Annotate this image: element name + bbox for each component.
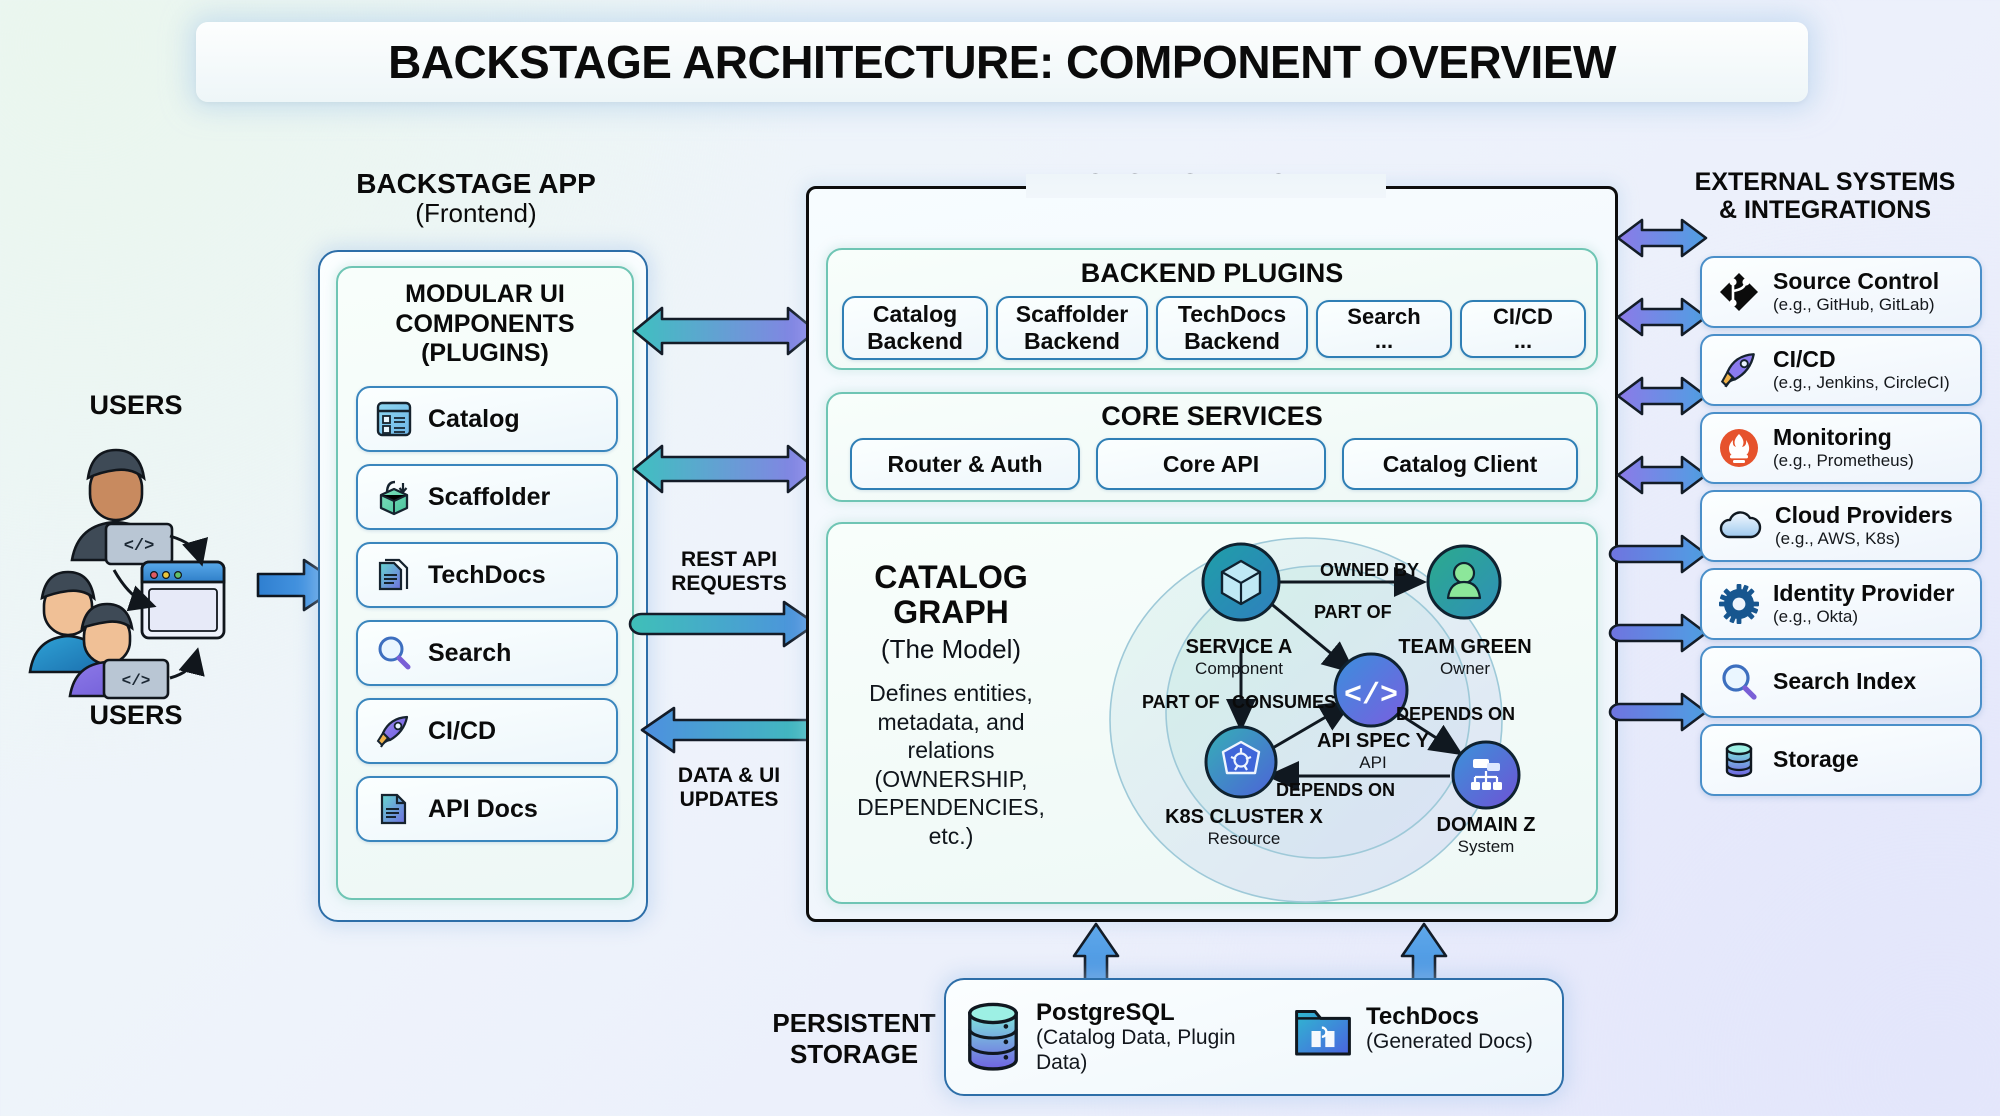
- backend-plugin-catalog[interactable]: CatalogBackend: [842, 296, 988, 360]
- external-item-search-index[interactable]: Search Index: [1700, 646, 1982, 718]
- core-services-heading: CORE SERVICES: [828, 401, 1596, 432]
- external-item-source-control[interactable]: Source Control (e.g., GitHub, GitLab): [1700, 256, 1982, 328]
- database-icon: [962, 998, 1024, 1078]
- graph-node-k8s-cluster-x: [1206, 727, 1276, 797]
- users-illustration: </> </>: [20, 420, 280, 710]
- storage-item-detail: (Generated Docs): [1366, 1030, 1533, 1055]
- catalog-graph-text: CATALOG GRAPH (The Model) Defines entiti…: [836, 560, 1066, 850]
- graph-label-api-spec-y: API SPEC Y API: [1278, 730, 1468, 773]
- document-icon: [374, 555, 414, 595]
- external-item-identity-provider[interactable]: Identity Provider (e.g., Okta): [1700, 568, 1982, 640]
- chip-line2: ...: [1514, 328, 1532, 353]
- edge-label-owned-by: OWNED BY: [1320, 560, 1419, 581]
- app-backend-arrow-top: [632, 306, 818, 356]
- prometheus-flame-icon: [1718, 427, 1760, 469]
- catalog-graph-panel: CATALOG GRAPH (The Model) Defines entiti…: [826, 522, 1598, 904]
- edge-label-depends-on-k8s: DEPENDS ON: [1276, 780, 1395, 801]
- page-title-text: BACKSTAGE ARCHITECTURE: COMPONENT OVERVI…: [388, 35, 1616, 89]
- page-title: BACKSTAGE ARCHITECTURE: COMPONENT OVERVI…: [196, 22, 1808, 102]
- rest-api-line2: REQUESTS: [644, 572, 814, 596]
- svg-text:</>: </>: [122, 672, 151, 690]
- git-branch-icon: [1718, 271, 1760, 313]
- data-ui-updates-arrow: [640, 706, 818, 754]
- plugins-heading-line3: (PLUGINS): [338, 339, 632, 369]
- external-item-detail: (e.g., Prometheus): [1773, 451, 1914, 471]
- core-service-router-auth[interactable]: Router & Auth: [850, 438, 1080, 490]
- plugin-label: TechDocs: [428, 561, 546, 590]
- rest-api-label: REST API REQUESTS: [644, 548, 814, 595]
- graph-node-service-a: [1203, 544, 1279, 620]
- plugins-heading-line1: MODULAR UI: [338, 280, 632, 310]
- plugin-label: Scaffolder: [428, 483, 550, 512]
- external-item-detail: (e.g., GitHub, GitLab): [1773, 295, 1939, 315]
- arrow-source-control: [1618, 220, 1706, 256]
- plugin-label: Search: [428, 639, 511, 668]
- catalog-graph-heading-line1: CATALOG: [874, 559, 1027, 595]
- backstage-app-caption: BACKSTAGE APP (Frontend): [266, 168, 686, 228]
- plugin-item-api-docs[interactable]: API Docs: [356, 776, 618, 842]
- catalog-graph-heading-line2: GRAPH: [893, 594, 1009, 630]
- chip-line2: Backend: [867, 328, 963, 354]
- core-service-catalog-client[interactable]: Catalog Client: [1342, 438, 1578, 490]
- graph-node-team-green: [1428, 546, 1500, 618]
- chip-line1: TechDocs: [1178, 301, 1286, 327]
- chip-line1: CI/CD: [1493, 304, 1553, 329]
- edge-label-consumes: CONSUMES: [1232, 692, 1336, 713]
- plugin-item-catalog[interactable]: Catalog: [356, 386, 618, 452]
- backend-plugins-heading: BACKEND PLUGINS: [828, 258, 1596, 289]
- arrow-cicd: [1618, 299, 1706, 335]
- database-icon: [1718, 739, 1760, 781]
- backstage-app-subheading: (Frontend): [266, 199, 686, 228]
- plugin-label: Catalog: [428, 405, 520, 434]
- external-item-cloud-providers[interactable]: Cloud Providers (e.g., AWS, K8s): [1700, 490, 1982, 562]
- graph-label-team-green: TEAM GREEN Owner: [1370, 636, 1560, 679]
- user-avatar-top: </>: [72, 450, 172, 564]
- plugin-item-search[interactable]: Search: [356, 620, 618, 686]
- external-item-name: Storage: [1773, 747, 1859, 772]
- arrow-storage: [1610, 694, 1706, 730]
- core-services-panel: CORE SERVICES Router & Auth Core API Cat…: [826, 392, 1598, 502]
- plugin-item-cicd[interactable]: CI/CD: [356, 698, 618, 764]
- catalog-graph-description: Defines entities, metadata, and relation…: [836, 679, 1066, 850]
- chip-line2: ...: [1375, 328, 1393, 353]
- plugin-label: API Docs: [428, 795, 538, 824]
- chip-line1: Scaffolder: [1016, 301, 1128, 327]
- browser-window-icon: [142, 562, 224, 638]
- plugin-label: CI/CD: [428, 717, 496, 746]
- arrow-cloud-providers: [1618, 457, 1706, 493]
- persistent-storage-caption: PERSISTENT STORAGE: [744, 1008, 964, 1070]
- external-item-name: Monitoring: [1773, 425, 1914, 450]
- plugin-item-techdocs[interactable]: TechDocs: [356, 542, 618, 608]
- external-systems-caption: EXTERNAL SYSTEMS & INTEGRATIONS: [1660, 168, 1990, 224]
- external-item-detail: (e.g., Jenkins, CircleCI): [1773, 373, 1950, 393]
- backend-plugin-cicd[interactable]: CI/CD...: [1460, 300, 1586, 358]
- storage-item-postgresql[interactable]: PostgreSQL (Catalog Data, Plugin Data): [962, 998, 1282, 1078]
- external-item-cicd[interactable]: CI/CD (e.g., Jenkins, CircleCI): [1700, 334, 1982, 406]
- backend-plugin-techdocs[interactable]: TechDocsBackend: [1156, 296, 1308, 360]
- chip-line1: Search: [1347, 304, 1420, 329]
- backstage-app-heading: BACKSTAGE APP: [266, 168, 686, 199]
- users-top-label: USERS: [56, 390, 216, 420]
- rest-api-arrow: [640, 600, 818, 648]
- edge-label-part-of-api: PART OF: [1314, 602, 1392, 623]
- plugins-heading: MODULAR UI COMPONENTS (PLUGINS): [338, 280, 632, 369]
- external-item-name: Cloud Providers: [1775, 503, 1953, 528]
- docs-folder-icon: [1292, 1000, 1354, 1062]
- graph-label-service-a: SERVICE A Component: [1144, 636, 1334, 679]
- external-item-name: Source Control: [1773, 269, 1939, 294]
- svg-text:</>: </>: [124, 537, 155, 556]
- graph-label-domain-z: DOMAIN Z System: [1396, 814, 1576, 857]
- backend-plugin-search[interactable]: Search...: [1316, 300, 1452, 358]
- edge-label-part-of-k8s: PART OF: [1142, 692, 1220, 713]
- storage-item-detail: (Catalog Data, Plugin Data): [1036, 1026, 1256, 1076]
- persistent-storage-line1: PERSISTENT: [744, 1008, 964, 1039]
- external-item-detail: (e.g., Okta): [1773, 607, 1954, 627]
- plugins-heading-line2: COMPONENTS: [338, 310, 632, 340]
- chip-line1: Catalog: [873, 301, 957, 327]
- magnifier-icon: [374, 633, 414, 673]
- gear-icon: [1718, 583, 1760, 625]
- external-item-monitoring[interactable]: Monitoring (e.g., Prometheus): [1700, 412, 1982, 484]
- data-ui-line1: DATA & UI: [644, 764, 814, 788]
- chip-line2: Backend: [1024, 328, 1120, 354]
- external-item-storage[interactable]: Storage: [1700, 724, 1982, 796]
- edge-label-depends-on-domain: DEPENDS ON: [1396, 704, 1515, 725]
- backend-plugins-panel: BACKEND PLUGINS CatalogBackend Scaffolde…: [826, 248, 1598, 370]
- catalog-graph-subheading: (The Model): [836, 634, 1066, 665]
- plugin-item-scaffolder[interactable]: Scaffolder: [356, 464, 618, 530]
- storage-item-techdocs[interactable]: TechDocs (Generated Docs): [1292, 1000, 1562, 1062]
- graph-label-k8s-cluster-x: K8S CLUSTER X Resource: [1146, 806, 1342, 849]
- persistent-storage-line2: STORAGE: [744, 1039, 964, 1070]
- external-item-detail: (e.g., AWS, K8s): [1775, 529, 1953, 549]
- backstage-app-panel: MODULAR UI COMPONENTS (PLUGINS) Catalog: [318, 250, 648, 922]
- arrow-identity-provider: [1610, 536, 1706, 572]
- document-icon: [374, 789, 414, 829]
- storage-item-name: TechDocs: [1366, 1004, 1533, 1030]
- backend-plugin-scaffolder[interactable]: ScaffolderBackend: [996, 296, 1148, 360]
- modular-ui-components-panel: MODULAR UI COMPONENTS (PLUGINS) Catalog: [336, 266, 634, 900]
- rest-api-line1: REST API: [644, 548, 814, 572]
- code-brackets-icon: </>: [1344, 679, 1398, 713]
- external-heading-line1: EXTERNAL SYSTEMS: [1660, 168, 1990, 196]
- magnifier-icon: [1718, 661, 1760, 703]
- rocket-icon: [374, 711, 414, 751]
- arrow-monitoring: [1618, 378, 1706, 414]
- chip-line2: Backend: [1184, 328, 1280, 354]
- scaffolder-box-icon: [374, 477, 414, 517]
- arrow-search-index: [1610, 615, 1706, 651]
- rocket-icon: [1718, 349, 1760, 391]
- external-item-name: Identity Provider: [1773, 581, 1954, 606]
- core-service-core-api[interactable]: Core API: [1096, 438, 1326, 490]
- cloud-icon: [1718, 506, 1762, 546]
- backend-title-gap: [1026, 174, 1386, 198]
- external-item-name: Search Index: [1773, 669, 1916, 694]
- data-ui-updates-label: DATA & UI UPDATES: [644, 764, 814, 811]
- persistent-storage-panel: PostgreSQL (Catalog Data, Plugin Data) T…: [944, 978, 1564, 1096]
- app-backend-arrow-middle: [632, 444, 818, 494]
- external-item-name: CI/CD: [1773, 347, 1950, 372]
- cube-icon: [1222, 561, 1260, 604]
- storage-item-name: PostgreSQL: [1036, 1000, 1256, 1026]
- catalog-list-icon: [374, 399, 414, 439]
- data-ui-line2: UPDATES: [644, 788, 814, 812]
